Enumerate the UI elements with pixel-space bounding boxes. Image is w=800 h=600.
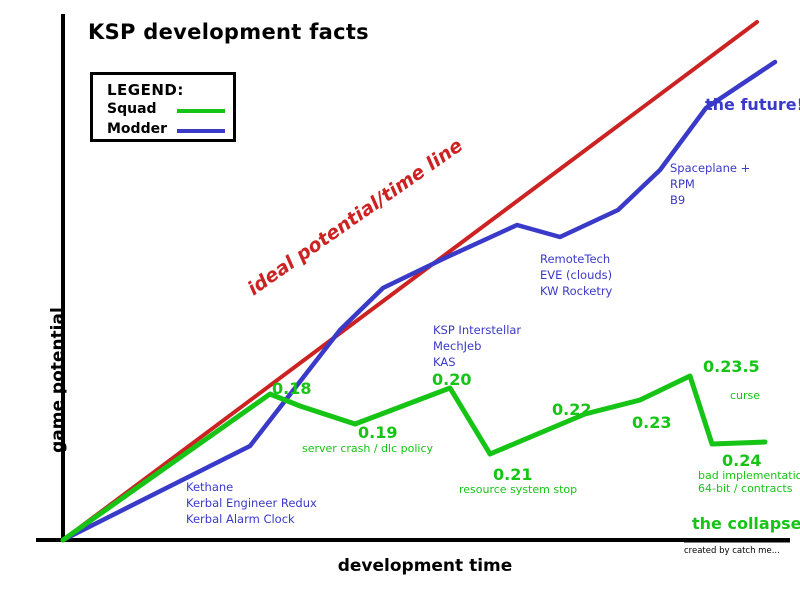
legend-swatch-squad [177,109,225,113]
version-note-021: resource system stop [459,484,577,497]
legend: LEGEND: Squad Modder [90,72,236,142]
mod-label-remotetech: RemoteTech [540,253,610,267]
mod-label-kethane: Kethane [186,481,233,495]
version-label-019: 0.19 [358,424,397,443]
x-axis-label: development time [280,556,570,576]
chart-canvas: KSP development facts LEGEND: Squad Modd… [0,0,800,600]
version-label-020: 0.20 [432,371,471,390]
legend-swatch-modder [177,129,225,133]
mod-label-ksp-interstellar: KSP Interstellar [433,324,521,338]
mod-label-spaceplane-plus: Spaceplane + [670,162,750,176]
mod-label-kerbal-engineer-redux: Kerbal Engineer Redux [186,497,317,511]
future-callout: the future! [705,96,800,115]
version-label-023: 0.23 [632,414,671,433]
credit-text: created by catch me... [684,546,780,556]
version-label-022: 0.22 [552,401,591,420]
version-label-018: 0.18 [272,380,311,399]
legend-label-squad: Squad [107,101,157,117]
mod-label-kas: KAS [433,356,456,370]
legend-heading: LEGEND: [107,81,184,99]
collapse-callout: the collapse! [692,515,800,534]
page-title: KSP development facts [88,20,369,45]
version-note-024-line2: 64-bit / contracts [698,483,792,496]
version-label-0235: 0.23.5 [703,358,760,377]
mod-label-b9: B9 [670,194,685,208]
mod-label-kerbal-alarm-clock: Kerbal Alarm Clock [186,513,295,527]
mod-label-rpm: RPM [670,178,695,192]
legend-label-modder: Modder [107,121,167,137]
curse-note: curse [730,390,760,403]
mod-label-kw-rocketry: KW Rocketry [540,285,612,299]
version-note-019: server crash / dlc policy [302,443,433,456]
y-axis-label: game potential [48,300,68,460]
mod-label-eve-clouds: EVE (clouds) [540,269,612,283]
series-line-squad [63,376,765,540]
mod-label-mechjeb: MechJeb [433,340,481,354]
